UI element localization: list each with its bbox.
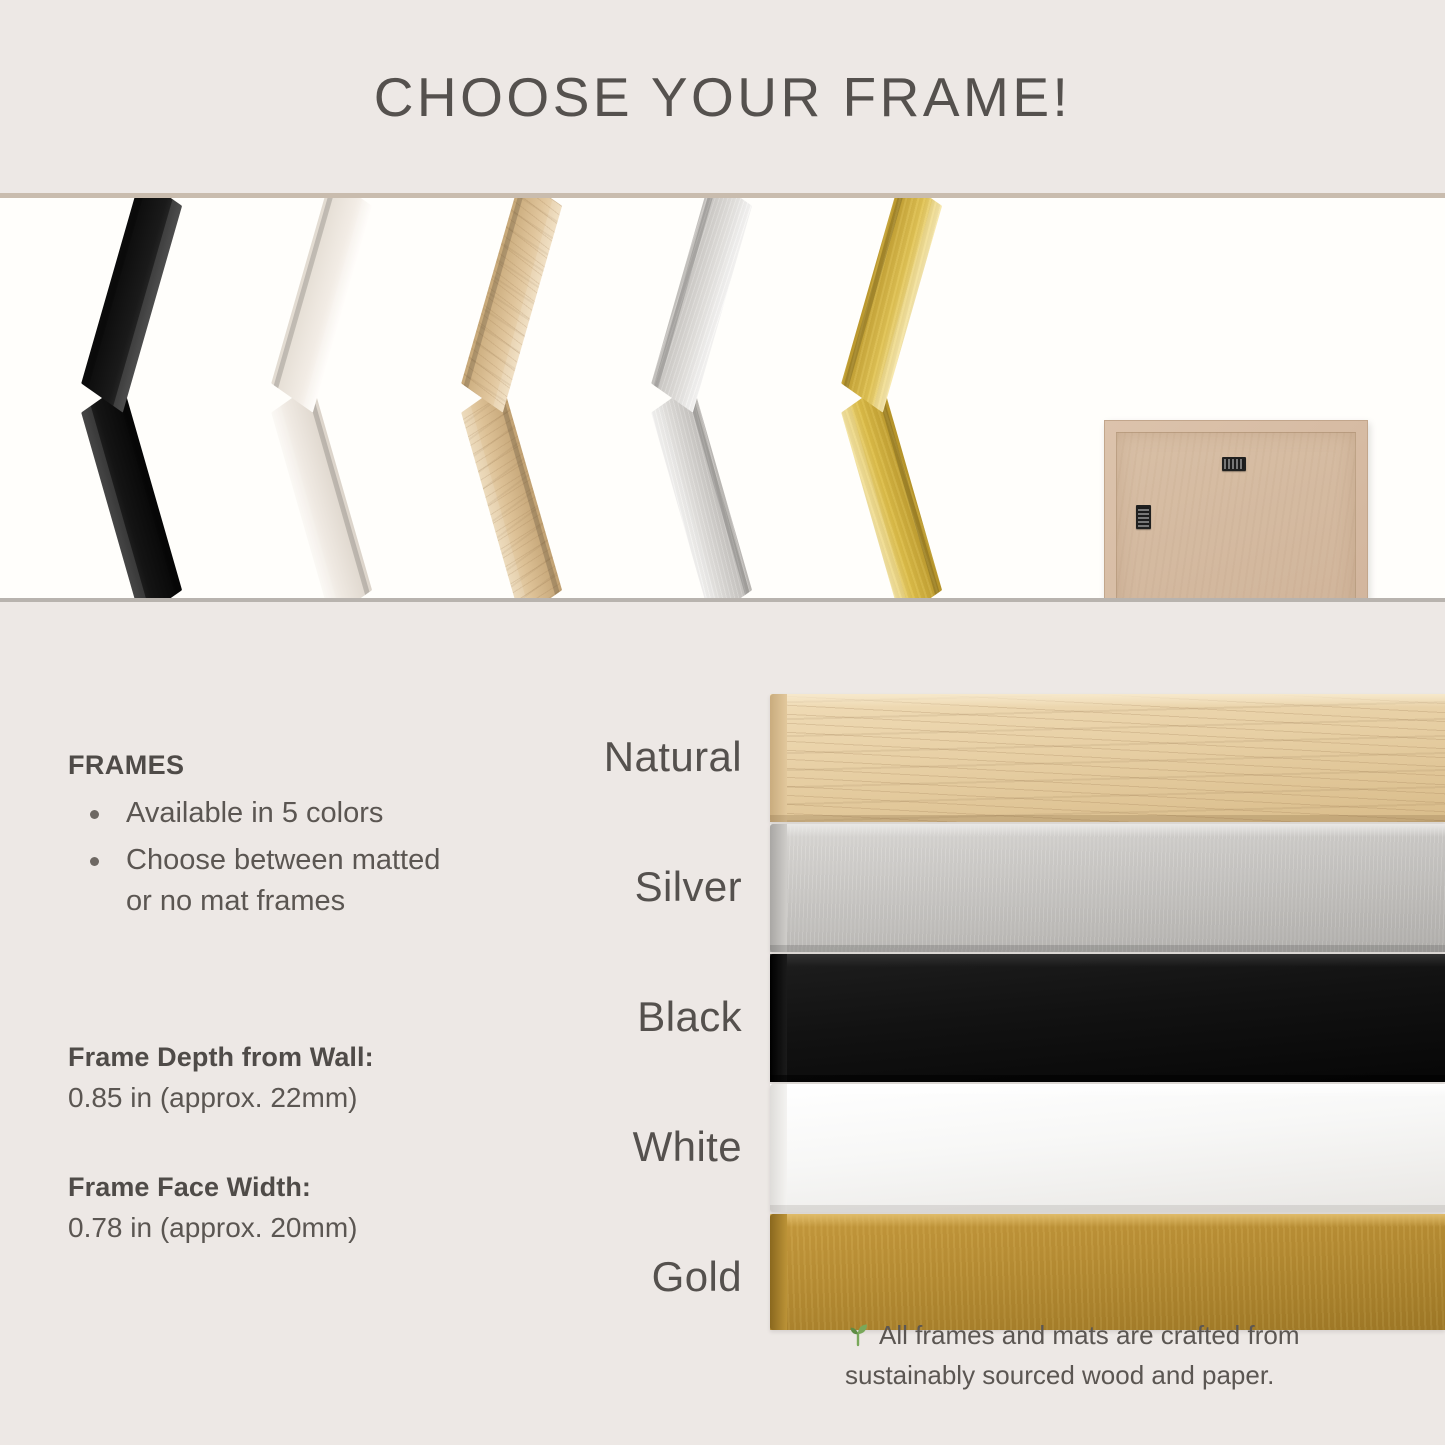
frame-corner-sample-band: [0, 198, 1445, 598]
natural-frame-corner[interactable]: [458, 243, 608, 553]
frame-details-section: Natural Silver Black White Gold FRAMES A…: [0, 602, 1445, 1445]
color-label-gold: Gold: [470, 1212, 742, 1342]
spec-label: Frame Depth from Wall:: [68, 1042, 508, 1073]
white-frame-corner[interactable]: [268, 243, 418, 553]
frames-heading: FRAMES: [68, 750, 508, 781]
hanging-hardware-icon: [1136, 505, 1151, 529]
color-label-list: Natural Silver Black White Gold: [470, 692, 742, 1342]
sustainability-line-2: sustainably sourced wood and paper.: [845, 1360, 1274, 1390]
hanging-hardware-icon: [1222, 457, 1246, 471]
list-item: Available in 5 colors: [68, 793, 508, 834]
color-label-black: Black: [470, 952, 742, 1082]
bullet-text-continued: or no mat frames: [126, 885, 345, 917]
spec-frame-depth: Frame Depth from Wall: 0.85 in (approx. …: [68, 1042, 508, 1114]
frames-bullet-list: Available in 5 colors Choose between mat…: [68, 793, 508, 923]
black-frame-corner[interactable]: [78, 243, 228, 553]
moulding-bar-white[interactable]: [770, 1084, 1445, 1212]
frame-backing-board: [1116, 432, 1356, 598]
color-label-silver: Silver: [470, 822, 742, 952]
page-title: CHOOSE YOUR FRAME!: [374, 65, 1072, 129]
frame-back-panel[interactable]: [1104, 420, 1368, 598]
color-label-natural: Natural: [470, 692, 742, 822]
color-label-white: White: [470, 1082, 742, 1212]
sprout-icon: [845, 1320, 871, 1357]
moulding-bar-natural[interactable]: [770, 694, 1445, 822]
bullet-dot-icon: [90, 810, 99, 819]
list-item: Choose between matted or no mat frames: [68, 840, 508, 922]
page-header: CHOOSE YOUR FRAME!: [0, 0, 1445, 193]
sustainability-note: All frames and mats are crafted from sus…: [845, 1317, 1385, 1394]
moulding-bar-silver[interactable]: [770, 824, 1445, 952]
spec-value: 0.85 in (approx. 22mm): [68, 1082, 508, 1114]
spec-label: Frame Face Width:: [68, 1172, 508, 1203]
spec-frame-face-width: Frame Face Width: 0.78 in (approx. 20mm): [68, 1172, 508, 1244]
silver-frame-corner[interactable]: [648, 243, 798, 553]
moulding-bar-black[interactable]: [770, 954, 1445, 1082]
bullet-text: Choose between matted: [126, 844, 440, 876]
bullet-text: Available in 5 colors: [126, 797, 383, 829]
spec-value: 0.78 in (approx. 20mm): [68, 1212, 508, 1244]
sustainability-line-1: All frames and mats are crafted from: [879, 1320, 1299, 1350]
bullet-dot-icon: [90, 857, 99, 866]
moulding-bar-gold[interactable]: [770, 1214, 1445, 1330]
frames-info-block: FRAMES Available in 5 colors Choose betw…: [68, 750, 508, 929]
gold-frame-corner[interactable]: [838, 243, 988, 553]
